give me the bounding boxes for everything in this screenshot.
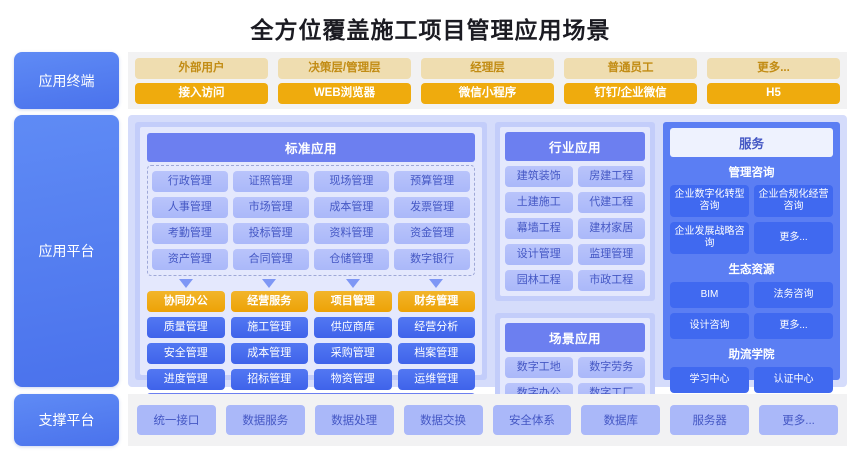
support-cell[interactable]: 数据服务 xyxy=(226,405,305,435)
terminal-chip-area: 外部用户 接入访问 决策层/管理层 WEB浏览器 经理层 微信小程序 普通员工 … xyxy=(128,52,847,109)
professional-apps-head[interactable]: 财务管理 xyxy=(398,291,476,312)
support-cell[interactable]: 统一接口 xyxy=(137,405,216,435)
app-cell[interactable]: 资产管理 xyxy=(152,249,228,270)
scene-cell[interactable]: 数字工地 xyxy=(505,357,573,378)
flow-arrows xyxy=(147,279,475,288)
app-cell[interactable]: 行政管理 xyxy=(152,171,228,192)
terminal-channel[interactable]: 钉钉/企业微信 xyxy=(564,83,697,104)
terminal-column: 经理层 微信小程序 xyxy=(421,58,554,104)
professional-apps-head[interactable]: 经营服务 xyxy=(231,291,309,312)
industry-cell[interactable]: 房建工程 xyxy=(578,166,646,187)
professional-apps-head[interactable]: 协同办公 xyxy=(147,291,225,312)
industry-cell[interactable]: 市政工程 xyxy=(578,270,646,291)
industry-cell[interactable]: 园林工程 xyxy=(505,270,573,291)
support-cell[interactable]: 数据交换 xyxy=(404,405,483,435)
professional-apps-grid: 协同办公 质量管理 安全管理 进度管理 经营服务 施工管理 成本管理 招标管理 xyxy=(147,291,475,390)
professional-apps-column: 协同办公 质量管理 安全管理 进度管理 xyxy=(147,291,225,390)
industry-cell[interactable]: 建材家居 xyxy=(578,218,646,239)
app-cell[interactable]: 质量管理 xyxy=(147,317,225,338)
scene-apps-header: 场景应用 xyxy=(505,323,645,352)
sidebar-label-terminal: 应用终端 xyxy=(14,52,119,109)
page-title: 全方位覆盖施工项目管理应用场景 xyxy=(0,0,861,52)
service-cell[interactable]: 更多... xyxy=(754,222,833,254)
platform-band: 应用平台 标准应用 行政管理 人事管理 考勤管理 资产管理 证照管理 xyxy=(0,115,861,387)
service-cell[interactable]: 更多... xyxy=(754,313,833,339)
standard-apps-header: 标准应用 xyxy=(147,133,475,162)
app-cell[interactable]: 安全管理 xyxy=(147,343,225,364)
app-cell[interactable]: 进度管理 xyxy=(147,369,225,390)
arrow-down-icon xyxy=(429,279,443,288)
app-cell[interactable]: 成本管理 xyxy=(314,197,390,218)
sidebar-label-platform: 应用平台 xyxy=(14,115,119,387)
standard-apps-grid: 行政管理 人事管理 考勤管理 资产管理 证照管理 市场管理 投标管理 合同管理 xyxy=(147,165,475,276)
app-cell[interactable]: 发票管理 xyxy=(394,197,470,218)
professional-apps-column: 财务管理 经营分析 档案管理 运维管理 xyxy=(398,291,476,390)
sidebar-label-support: 支撑平台 xyxy=(14,394,119,446)
app-cell[interactable]: 数字银行 xyxy=(394,249,470,270)
services-panel: 服务 管理咨询 企业数字化转型咨询 企业合规化经营咨询 企业发展战略咨询 更多.… xyxy=(663,122,840,380)
terminal-channel[interactable]: H5 xyxy=(707,83,840,104)
app-cell[interactable]: 预算管理 xyxy=(394,171,470,192)
professional-apps-column: 经营服务 施工管理 成本管理 招标管理 xyxy=(231,291,309,390)
standard-apps-column: 证照管理 市场管理 投标管理 合同管理 xyxy=(233,171,309,270)
industry-cell[interactable]: 监理管理 xyxy=(578,244,646,265)
services-group-label: 管理咨询 xyxy=(670,160,833,182)
service-cell[interactable]: 企业数字化转型咨询 xyxy=(670,185,749,217)
applications-inner: 标准应用 行政管理 人事管理 考勤管理 资产管理 证照管理 市场管理 投标管理 xyxy=(140,127,482,375)
terminal-column: 普通员工 钉钉/企业微信 xyxy=(564,58,697,104)
app-cell[interactable]: 供应商库 xyxy=(314,317,392,338)
terminal-band: 应用终端 外部用户 接入访问 决策层/管理层 WEB浏览器 经理层 微信小程序 … xyxy=(0,52,861,109)
industry-apps-inner: 行业应用 建筑装饰 房建工程 土建施工 代建工程 幕墙工程 建材家居 设计管理 … xyxy=(500,127,650,296)
app-cell[interactable]: 证照管理 xyxy=(233,171,309,192)
arrow-wrap xyxy=(231,279,309,288)
service-cell[interactable]: 认证中心 xyxy=(754,367,833,393)
support-cell[interactable]: 数据处理 xyxy=(315,405,394,435)
service-cell[interactable]: 法务咨询 xyxy=(754,282,833,308)
services-group-label: 生态资源 xyxy=(670,257,833,279)
app-cell[interactable]: 物资管理 xyxy=(314,369,392,390)
app-cell[interactable]: 资金管理 xyxy=(394,223,470,244)
support-chip-area: 统一接口 数据服务 数据处理 数据交换 安全体系 数据库 服务器 更多... xyxy=(128,394,847,446)
app-cell[interactable]: 合同管理 xyxy=(233,249,309,270)
app-cell[interactable]: 投标管理 xyxy=(233,223,309,244)
terminal-role[interactable]: 更多... xyxy=(707,58,840,79)
arrow-wrap xyxy=(398,279,476,288)
app-cell[interactable]: 采购管理 xyxy=(314,343,392,364)
app-cell[interactable]: 现场管理 xyxy=(314,171,390,192)
services-header: 服务 xyxy=(670,128,833,157)
industry-cell[interactable]: 幕墙工程 xyxy=(505,218,573,239)
arrow-down-icon xyxy=(179,279,193,288)
app-cell[interactable]: 人事管理 xyxy=(152,197,228,218)
standard-apps-column: 现场管理 成本管理 资料管理 仓储管理 xyxy=(314,171,390,270)
services-group-grid: BIM 法务咨询 设计咨询 更多... xyxy=(670,282,833,339)
support-cell[interactable]: 数据库 xyxy=(581,405,660,435)
terminal-column: 外部用户 接入访问 xyxy=(135,58,268,104)
scene-cell[interactable]: 数字劳务 xyxy=(578,357,646,378)
industry-cell[interactable]: 建筑装饰 xyxy=(505,166,573,187)
service-cell[interactable]: BIM xyxy=(670,282,749,308)
platform-content: 标准应用 行政管理 人事管理 考勤管理 资产管理 证照管理 市场管理 投标管理 xyxy=(128,115,847,387)
industry-apps-grid: 建筑装饰 房建工程 土建施工 代建工程 幕墙工程 建材家居 设计管理 监理管理 … xyxy=(505,166,645,291)
services-group-grid: 企业数字化转型咨询 企业合规化经营咨询 企业发展战略咨询 更多... xyxy=(670,185,833,254)
terminal-column: 决策层/管理层 WEB浏览器 xyxy=(278,58,411,104)
support-cell[interactable]: 更多... xyxy=(759,405,838,435)
industry-apps-panel: 行业应用 建筑装饰 房建工程 土建施工 代建工程 幕墙工程 建材家居 设计管理 … xyxy=(495,122,655,301)
service-cell[interactable]: 学习中心 xyxy=(670,367,749,393)
infographic-page: 全方位覆盖施工项目管理应用场景 应用终端 外部用户 接入访问 决策层/管理层 W… xyxy=(0,0,861,464)
arrow-down-icon xyxy=(346,279,360,288)
service-cell[interactable]: 企业合规化经营咨询 xyxy=(754,185,833,217)
terminal-column: 更多... H5 xyxy=(707,58,840,104)
terminal-role[interactable]: 外部用户 xyxy=(135,58,268,79)
terminal-channel[interactable]: WEB浏览器 xyxy=(278,83,411,104)
standard-apps-column: 行政管理 人事管理 考勤管理 资产管理 xyxy=(152,171,228,270)
app-cell[interactable]: 仓储管理 xyxy=(314,249,390,270)
app-cell[interactable]: 市场管理 xyxy=(233,197,309,218)
terminal-role[interactable]: 决策层/管理层 xyxy=(278,58,411,79)
arrow-wrap xyxy=(147,279,225,288)
professional-apps-column: 项目管理 供应商库 采购管理 物资管理 xyxy=(314,291,392,390)
service-cell[interactable]: 设计咨询 xyxy=(670,313,749,339)
app-cell[interactable]: 成本管理 xyxy=(231,343,309,364)
arrow-wrap xyxy=(314,279,392,288)
arrow-down-icon xyxy=(262,279,276,288)
standard-apps-column: 预算管理 发票管理 资金管理 数字银行 xyxy=(394,171,470,270)
app-cell[interactable]: 资料管理 xyxy=(314,223,390,244)
app-cell[interactable]: 施工管理 xyxy=(231,317,309,338)
terminal-role[interactable]: 经理层 xyxy=(421,58,554,79)
industry-cell[interactable]: 代建工程 xyxy=(578,192,646,213)
professional-apps-head[interactable]: 项目管理 xyxy=(314,291,392,312)
support-cell[interactable]: 安全体系 xyxy=(493,405,572,435)
applications-panel: 标准应用 行政管理 人事管理 考勤管理 资产管理 证照管理 市场管理 投标管理 xyxy=(135,122,487,380)
support-cell[interactable]: 服务器 xyxy=(670,405,749,435)
app-cell[interactable]: 经营分析 xyxy=(398,317,476,338)
industry-apps-header: 行业应用 xyxy=(505,132,645,161)
app-cell[interactable]: 档案管理 xyxy=(398,343,476,364)
app-cell[interactable]: 运维管理 xyxy=(398,369,476,390)
support-band: 支撑平台 统一接口 数据服务 数据处理 数据交换 安全体系 数据库 服务器 更多… xyxy=(0,394,861,446)
services-group-label: 助流学院 xyxy=(670,342,833,364)
industry-scene-column: 行业应用 建筑装饰 房建工程 土建施工 代建工程 幕墙工程 建材家居 设计管理 … xyxy=(495,122,655,380)
industry-cell[interactable]: 设计管理 xyxy=(505,244,573,265)
terminal-channel[interactable]: 微信小程序 xyxy=(421,83,554,104)
terminal-role[interactable]: 普通员工 xyxy=(564,58,697,79)
app-cell[interactable]: 考勤管理 xyxy=(152,223,228,244)
app-cell[interactable]: 招标管理 xyxy=(231,369,309,390)
industry-cell[interactable]: 土建施工 xyxy=(505,192,573,213)
service-cell[interactable]: 企业发展战略咨询 xyxy=(670,222,749,254)
terminal-channel[interactable]: 接入访问 xyxy=(135,83,268,104)
